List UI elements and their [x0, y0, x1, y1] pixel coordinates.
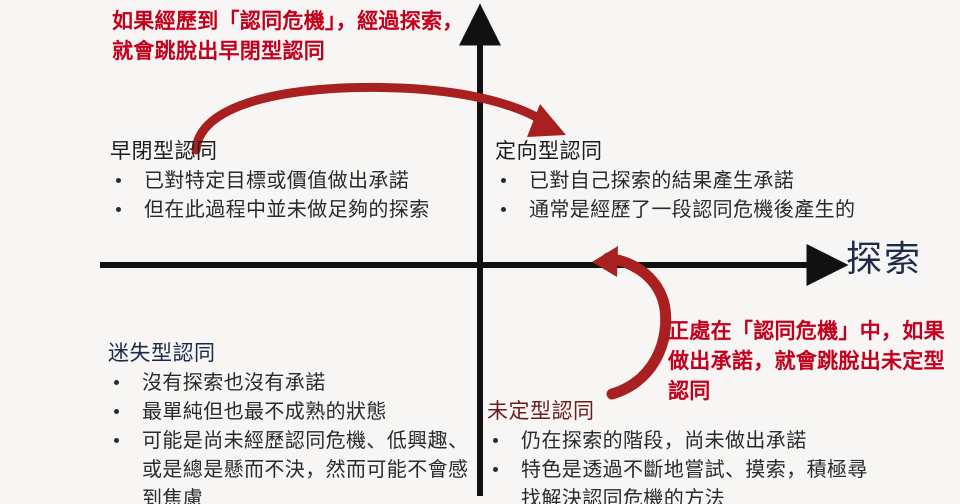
list-item: 但在此過程中並未做足夠的探索	[110, 195, 470, 224]
list-item-label: 但在此過程中並未做足夠的探索	[144, 197, 430, 221]
quadrant-achievement-title: 定向型認同	[495, 138, 875, 164]
quadrant-foreclosure: 早閉型認同 已對特定目標或價值做出承諾 但在此過程中並未做足夠的探索	[110, 138, 470, 224]
bullet-dot-icon	[114, 438, 119, 443]
bullet-dot-icon	[114, 380, 119, 385]
quadrant-diffusion-bullets: 沒有探索也沒有承諾 最單純但也最不成熟的狀態 可能是尚未經歷認同危機、低興趣、或…	[108, 368, 480, 504]
quadrant-achievement: 定向型認同 已對自己探索的結果產生承諾 通常是經歷了一段認同危機後產生的	[495, 138, 875, 224]
bullet-dot-icon	[114, 409, 119, 414]
list-item: 已對特定目標或價值做出承諾	[110, 166, 470, 195]
list-item: 最單純但也最不成熟的狀態	[108, 397, 480, 426]
list-item-label: 已對自己探索的結果產生承諾	[529, 168, 794, 192]
bullet-dot-icon	[501, 178, 506, 183]
bullet-dot-icon	[116, 178, 121, 183]
list-item: 特色是透過不斷地嘗試、摸索，積極尋找解決認同危機的方法	[487, 455, 877, 504]
quadrant-moratorium: 未定型認同 仍在探索的階段，尚未做出承諾 特色是透過不斷地嘗試、摸索，積極尋找解…	[487, 398, 877, 504]
quadrant-foreclosure-bullets: 已對特定目標或價值做出承諾 但在此過程中並未做足夠的探索	[110, 166, 470, 224]
bullet-dot-icon	[493, 438, 498, 443]
quadrant-diffusion: 迷失型認同 沒有探索也沒有承諾 最單純但也最不成熟的狀態 可能是尚未經歷認同危機…	[108, 340, 480, 504]
bullet-dot-icon	[501, 207, 506, 212]
list-item-label: 特色是透過不斷地嘗試、摸索，積極尋找解決認同危機的方法	[521, 457, 868, 504]
list-item: 沒有探索也沒有承諾	[108, 368, 480, 397]
quadrant-moratorium-title: 未定型認同	[487, 398, 877, 424]
list-item-label: 仍在探索的階段，尚未做出承諾	[521, 428, 807, 452]
identity-status-diagram-slide: 如果經歷到「認同危機」，經過探索，就會跳脫出早閉型認同 正處在「認同危機」中，如…	[0, 0, 960, 504]
quadrant-achievement-bullets: 已對自己探索的結果產生承諾 通常是經歷了一段認同危機後產生的	[495, 166, 875, 224]
list-item-label: 已對特定目標或價值做出承諾	[144, 168, 409, 192]
list-item-label: 最單純但也最不成熟的狀態	[142, 399, 387, 423]
annotation-foreclosure-escape: 如果經歷到「認同危機」，經過探索，就會跳脫出早閉型認同	[112, 6, 472, 66]
list-item-label: 可能是尚未經歷認同危機、低興趣、或是總是懸而不決，然而可能不會感到焦慮	[142, 428, 468, 504]
x-axis-label: 探索	[846, 238, 922, 282]
curved-arrow-moratorium-to-achievement	[592, 246, 666, 394]
list-item-label: 通常是經歷了一段認同危機後產生的	[529, 197, 855, 221]
quadrant-foreclosure-title: 早閉型認同	[110, 138, 470, 164]
bullet-dot-icon	[116, 207, 121, 212]
quadrant-moratorium-bullets: 仍在探索的階段，尚未做出承諾 特色是透過不斷地嘗試、摸索，積極尋找解決認同危機的…	[487, 426, 877, 504]
bullet-dot-icon	[493, 467, 498, 472]
list-item: 可能是尚未經歷認同危機、低興趣、或是總是懸而不決，然而可能不會感到焦慮	[108, 426, 480, 504]
list-item-label: 沒有探索也沒有承諾	[142, 370, 326, 394]
list-item: 已對自己探索的結果產生承諾	[495, 166, 875, 195]
list-item: 仍在探索的階段，尚未做出承諾	[487, 426, 877, 455]
annotation-moratorium-escape: 正處在「認同危機」中，如果做出承諾，就會跳脫出未定型認同	[668, 316, 948, 406]
list-item: 通常是經歷了一段認同危機後產生的	[495, 195, 875, 224]
quadrant-diffusion-title: 迷失型認同	[108, 340, 480, 366]
